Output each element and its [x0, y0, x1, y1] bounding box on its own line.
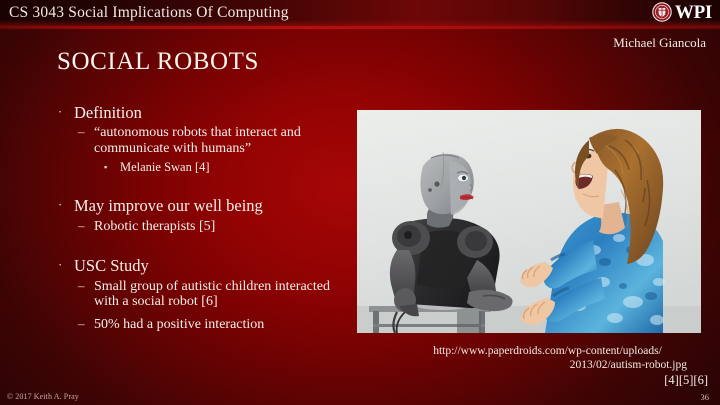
bullet-text: Robotic therapists [5] — [94, 219, 348, 235]
bullet-marker-level3: ▪ — [104, 160, 120, 174]
wpi-wordmark: WPI — [675, 3, 712, 22]
wpi-logo: WPI — [652, 2, 712, 22]
photo-caption: http://www.paperdroids.com/wp-content/up… — [390, 344, 705, 373]
slide-title: SOCIAL ROBOTS — [57, 48, 259, 76]
reference-citations: [4][5][6] — [664, 373, 708, 388]
bullet-level1: · May improve our well being — [58, 196, 348, 215]
bullet-text: Definition — [74, 103, 348, 122]
bullet-group: · May improve our well being – Robotic t… — [58, 196, 348, 234]
bullet-level2: – “autonomous robots that interact and c… — [78, 125, 348, 156]
bullet-text: Melanie Swan [4] — [120, 160, 348, 174]
bullet-level2: – Robotic therapists [5] — [78, 219, 348, 235]
bullet-marker-level1: · — [58, 256, 74, 274]
bullet-text: Small group of autistic children interac… — [94, 279, 348, 310]
bullet-marker-level1: · — [58, 103, 74, 121]
author-name: Michael Giancola — [613, 35, 706, 51]
bullet-marker-level2: – — [78, 279, 94, 294]
bullet-level1: · USC Study — [58, 256, 348, 275]
page-number: 36 — [701, 392, 710, 402]
caption-line-1: http://www.paperdroids.com/wp-content/up… — [390, 344, 705, 358]
bullet-marker-level2: – — [78, 125, 94, 140]
copyright-notice: © 2017 Keith A. Pray — [7, 392, 79, 401]
bullet-level1: · Definition — [58, 103, 348, 122]
wpi-seal-icon — [652, 2, 672, 22]
header-accent-line — [0, 26, 720, 29]
bullet-level3: ▪ Melanie Swan [4] — [104, 160, 348, 174]
bullet-group: · USC Study – Small group of autistic ch… — [58, 256, 348, 332]
bullet-level2: – Small group of autistic children inter… — [78, 279, 348, 310]
course-title: CS 3043 Social Implications Of Computing — [9, 4, 289, 22]
robot-interaction-photo — [357, 110, 701, 333]
bullet-marker-level2: – — [78, 317, 94, 332]
bullet-marker-level2: – — [78, 219, 94, 234]
bullet-text: 50% had a positive interaction — [94, 317, 348, 333]
bullet-text: USC Study — [74, 256, 348, 275]
bullet-level2: – 50% had a positive interaction — [78, 317, 348, 333]
bullet-text: May improve our well being — [74, 196, 348, 215]
slide-canvas: CS 3043 Social Implications Of Computing… — [0, 0, 720, 405]
bullet-group: · Definition – “autonomous robots that i… — [58, 103, 348, 174]
bullet-content: · Definition – “autonomous robots that i… — [58, 103, 348, 336]
caption-line-2: 2013/02/autism-robot.jpg — [390, 358, 705, 372]
bullet-marker-level1: · — [58, 196, 74, 214]
bullet-text: “autonomous robots that interact and com… — [94, 125, 348, 156]
